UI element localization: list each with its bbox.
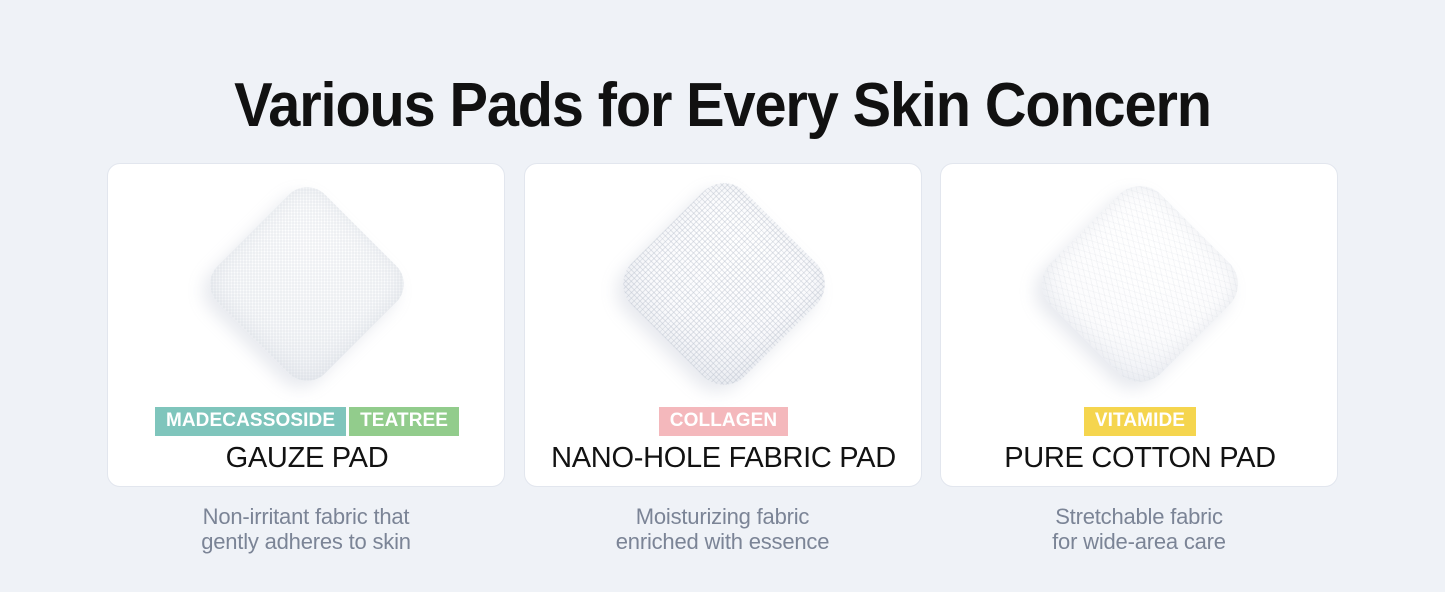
caption-line: Non-irritant fabric that bbox=[201, 504, 411, 529]
pad-card-row: MADECASSOSIDE TEATREE GAUZE PAD Non-irri… bbox=[107, 163, 1338, 554]
status-badge: MADECASSOSIDE bbox=[155, 407, 346, 436]
badge-row: COLLAGEN bbox=[525, 407, 923, 436]
pad-card-gauze[interactable]: MADECASSOSIDE TEATREE GAUZE PAD Non-irri… bbox=[107, 163, 505, 554]
promo-banner: Various Pads for Every Skin Concern MADE… bbox=[0, 0, 1445, 592]
pad-card-pure-cotton[interactable]: VITAMIDE PURE COTTON PAD Stretchable fab… bbox=[940, 163, 1338, 554]
caption-line: enriched with essence bbox=[616, 529, 829, 554]
card-title: PURE COTTON PAD bbox=[941, 440, 1339, 476]
status-badge: VITAMIDE bbox=[1084, 407, 1196, 436]
pad-image-wrap bbox=[108, 164, 506, 404]
card-title: NANO-HOLE FABRIC PAD bbox=[525, 440, 923, 476]
pad-image-wrap bbox=[525, 164, 923, 404]
pad-image-wrap bbox=[941, 164, 1339, 404]
badge-row: VITAMIDE bbox=[941, 407, 1339, 436]
card-body[interactable]: COLLAGEN NANO-HOLE FABRIC PAD bbox=[524, 163, 922, 487]
card-body[interactable]: VITAMIDE PURE COTTON PAD bbox=[940, 163, 1338, 487]
card-body[interactable]: MADECASSOSIDE TEATREE GAUZE PAD bbox=[107, 163, 505, 487]
card-title: GAUZE PAD bbox=[108, 440, 506, 476]
badge-row: MADECASSOSIDE TEATREE bbox=[108, 407, 506, 436]
status-badge: COLLAGEN bbox=[659, 407, 788, 436]
page-title: Various Pads for Every Skin Concern bbox=[51, 68, 1395, 144]
caption-line: Stretchable fabric bbox=[1052, 504, 1226, 529]
status-badge: TEATREE bbox=[349, 407, 459, 436]
nano-hole-fabric-pad-icon bbox=[610, 171, 836, 397]
caption-line: for wide-area care bbox=[1052, 529, 1226, 554]
card-caption: Non-irritant fabric that gently adheres … bbox=[201, 504, 411, 554]
caption-line: gently adheres to skin bbox=[201, 529, 411, 554]
card-caption: Moisturizing fabric enriched with essenc… bbox=[616, 504, 829, 554]
pad-card-nano-hole[interactable]: COLLAGEN NANO-HOLE FABRIC PAD Moisturizi… bbox=[524, 163, 922, 554]
caption-line: Moisturizing fabric bbox=[616, 504, 829, 529]
pure-cotton-pad-icon bbox=[1030, 174, 1251, 395]
gauze-pad-icon bbox=[200, 177, 415, 392]
card-caption: Stretchable fabric for wide-area care bbox=[1052, 504, 1226, 554]
